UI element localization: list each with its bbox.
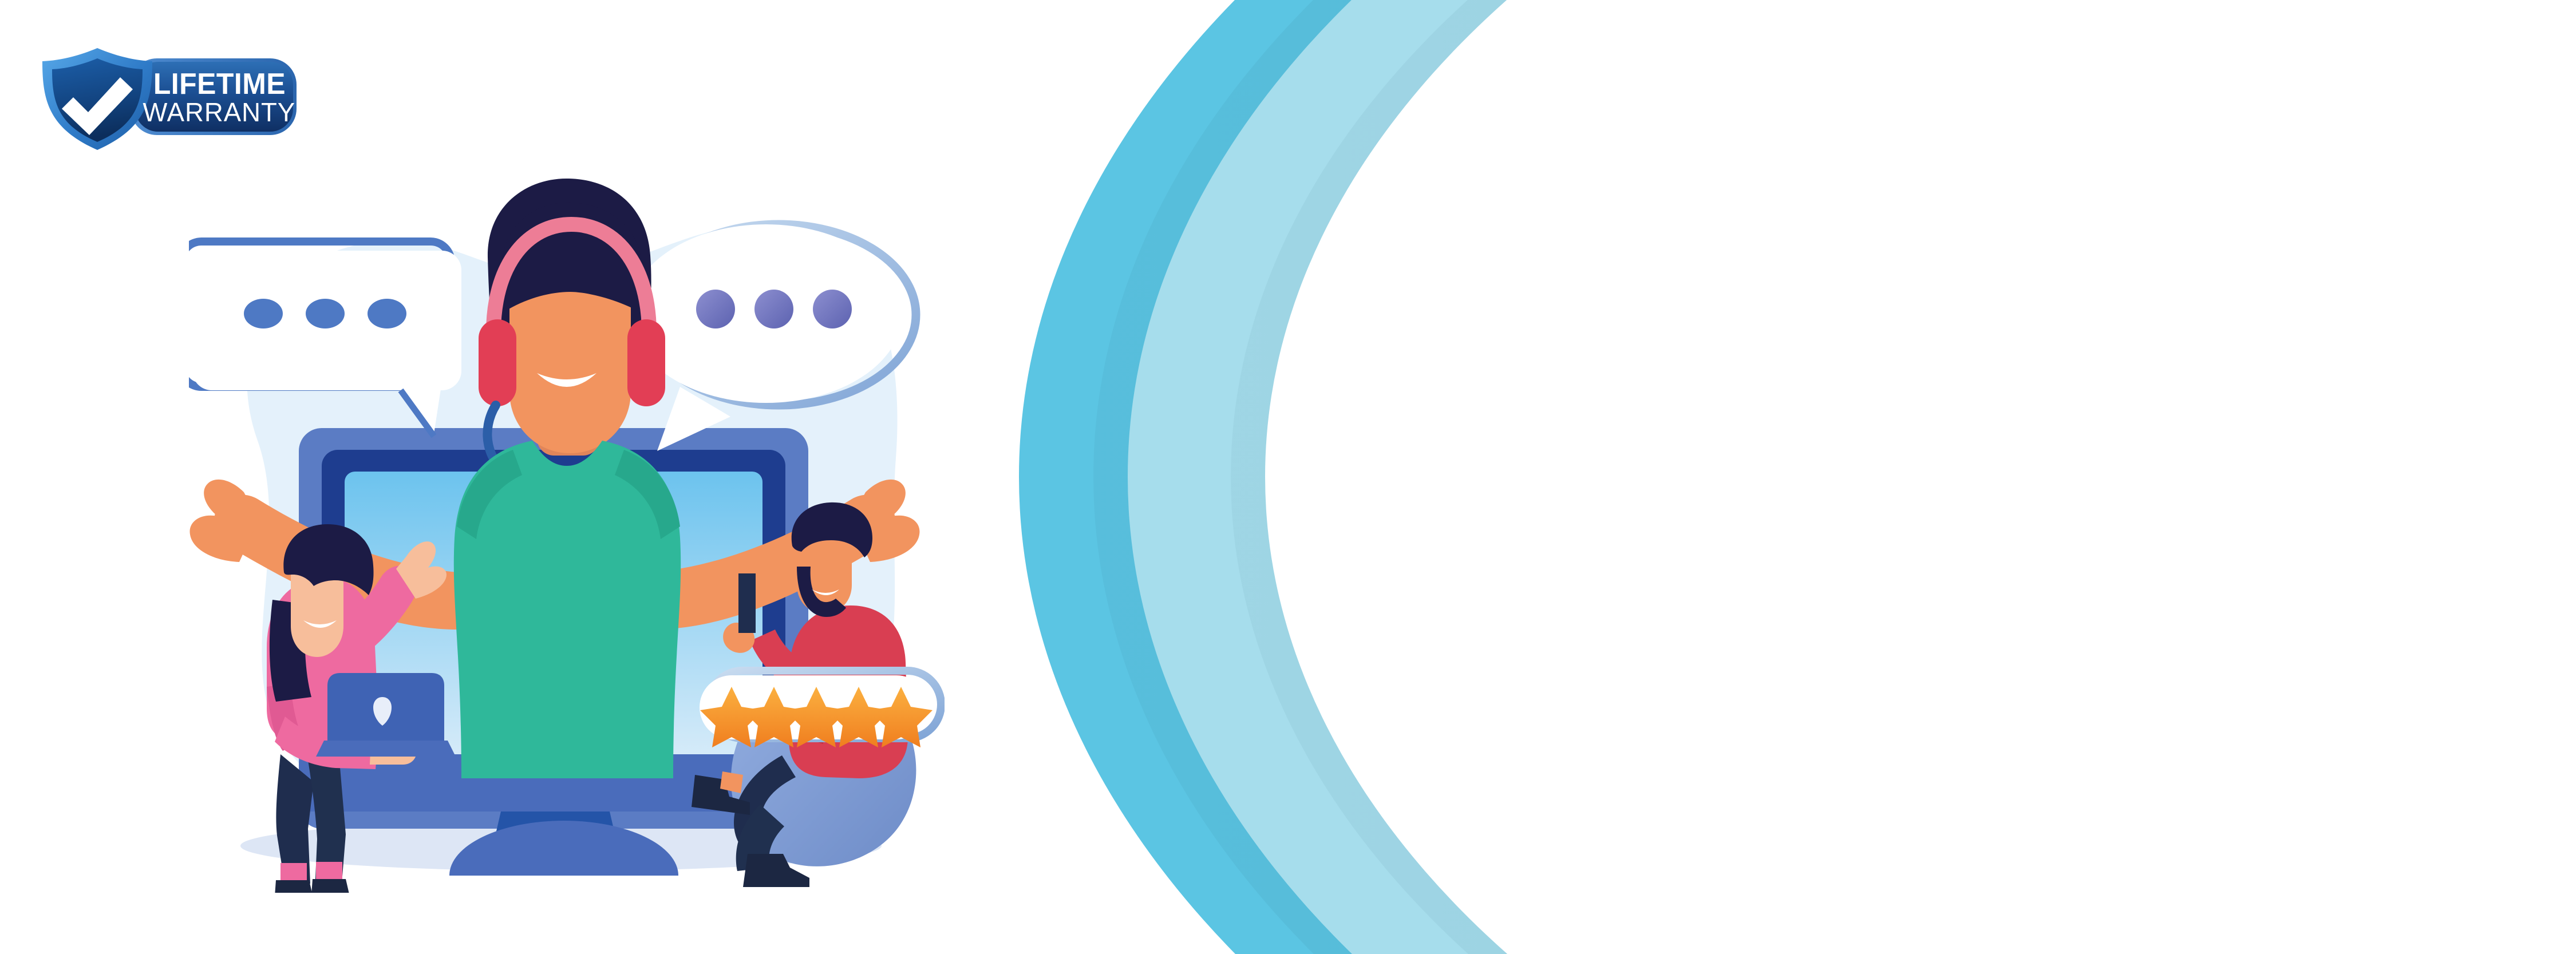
lifetime-warranty-badge: LIFETIME WARRANTY — [34, 45, 303, 153]
bubble-right-dot — [754, 290, 793, 328]
phone — [738, 573, 756, 633]
star-rating-badge — [700, 671, 941, 747]
promo-body: Le nostre licenze rilegabili hanno una g… — [1435, 200, 2412, 488]
promo-footnote-line: licenza assegnata a un account Microsoft… — [1423, 866, 2423, 916]
woman-shoe — [310, 879, 369, 893]
laptop-base — [316, 741, 456, 757]
page-title: Garanzia a vita — [1447, 62, 2400, 169]
bubble-left-dot — [244, 299, 283, 328]
lifetime-warranty-banner: LIFETIME WARRANTY — [0, 0, 2576, 954]
promo-body-line: hanno una garanzia a vita*. — [1435, 272, 2412, 345]
headset-cup-right — [627, 319, 665, 406]
promo-body-line: Quindi, se dopo 5 anni avrà ancora un — [1435, 345, 2412, 417]
bubble-right-dot — [813, 290, 852, 328]
bubble-left-dot — [368, 299, 406, 328]
woman-sock — [316, 862, 342, 879]
bubble-left-dot — [306, 299, 345, 328]
promo-text-column: Garanzia a vita Le nostre licenze rilega… — [1328, 0, 2519, 954]
promo-footnote-line: * Può richiedere la garanzia a vita se h… — [1423, 816, 2423, 866]
bubble-right-dot — [696, 290, 735, 328]
customer-support-illustration — [189, 172, 945, 893]
promo-body-line: Le nostre licenze rilegabili — [1435, 200, 2412, 272]
woman-sock — [280, 863, 307, 880]
headset-cup-left — [479, 319, 516, 406]
promo-body-line: problema con la sua licenza, la risolver… — [1435, 416, 2412, 488]
agent-face — [509, 284, 631, 453]
badge-lifetime-label: LIFETIME — [153, 70, 285, 99]
badge-warranty-label: WARRANTY — [143, 99, 296, 126]
promo-footnote: * Può richiedere la garanzia a vita se h… — [1423, 816, 2423, 916]
